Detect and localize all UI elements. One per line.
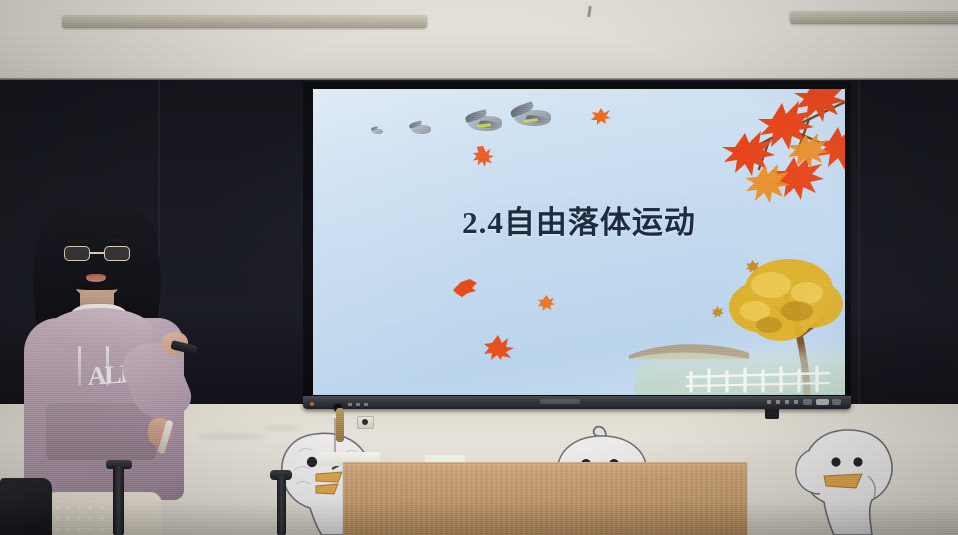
display-brand-logo [540, 399, 580, 404]
eyeglass-lens-right [104, 246, 130, 261]
blackboard-seam-right [858, 80, 860, 405]
duck-eye-left [307, 457, 317, 467]
maple-leaf-icon [538, 294, 555, 311]
display-button-menu[interactable] [776, 400, 780, 404]
maple-leaf-icon [484, 334, 514, 360]
duck-beak-lower [316, 484, 338, 494]
display-button-source[interactable] [803, 399, 812, 405]
duck-eye-left [831, 457, 840, 466]
bird-icon [371, 127, 384, 135]
display-button-volume-down[interactable] [785, 400, 789, 404]
display-button-power[interactable] [767, 400, 771, 404]
display-status-indicator [816, 399, 829, 405]
ceiling-light-tube-right-icon [790, 11, 958, 24]
hoodie-hood [48, 308, 152, 352]
maple-leaf-icon [473, 145, 495, 167]
bird-icon [409, 122, 433, 135]
stand-left-pole [113, 466, 124, 535]
ceiling-mark [587, 6, 592, 17]
eyeglasses-icon [64, 246, 132, 262]
chair [0, 478, 52, 535]
upper-wall [0, 0, 958, 82]
duck-beak [824, 474, 862, 488]
mouth [86, 274, 106, 282]
ceiling-light-tube-left-icon [62, 15, 427, 28]
wooden-podium [343, 464, 747, 535]
bird-icon [465, 111, 505, 133]
duck-beak [316, 472, 342, 482]
slide-title: 2.4自由落体运动 [313, 197, 845, 242]
wall-smudge [196, 434, 266, 439]
maple-leaf-icon [591, 107, 611, 125]
white-fence-icon [683, 357, 833, 393]
display-red-led [310, 402, 314, 406]
display-ir-receiver [765, 409, 779, 419]
classroom-scene: 2.4自由落体运动 [0, 0, 958, 535]
presentation-slide[interactable]: 2.4自由落体运动 [313, 89, 845, 395]
duck-decoration-right [786, 424, 912, 535]
eyeglass-bridge [90, 252, 104, 254]
slide-hill-icon [629, 337, 749, 359]
wall-hook [336, 408, 344, 442]
maple-leaf-icon [451, 277, 479, 301]
display-indicator-b [356, 403, 360, 406]
display-button-home[interactable] [832, 399, 841, 405]
display-indicator-c [364, 403, 368, 406]
pants-texture [52, 502, 108, 535]
display-button-volume-up[interactable] [794, 400, 798, 404]
microphone-stand [277, 476, 286, 535]
duck-eye-right [853, 457, 862, 466]
display-indicator-a [348, 403, 352, 406]
wall-socket-opening [362, 419, 368, 425]
bird-icon [510, 105, 554, 129]
duck-head-curl [594, 427, 606, 437]
hoodie-drawstring-left [78, 346, 81, 386]
eyeglass-lens-left [64, 246, 90, 261]
